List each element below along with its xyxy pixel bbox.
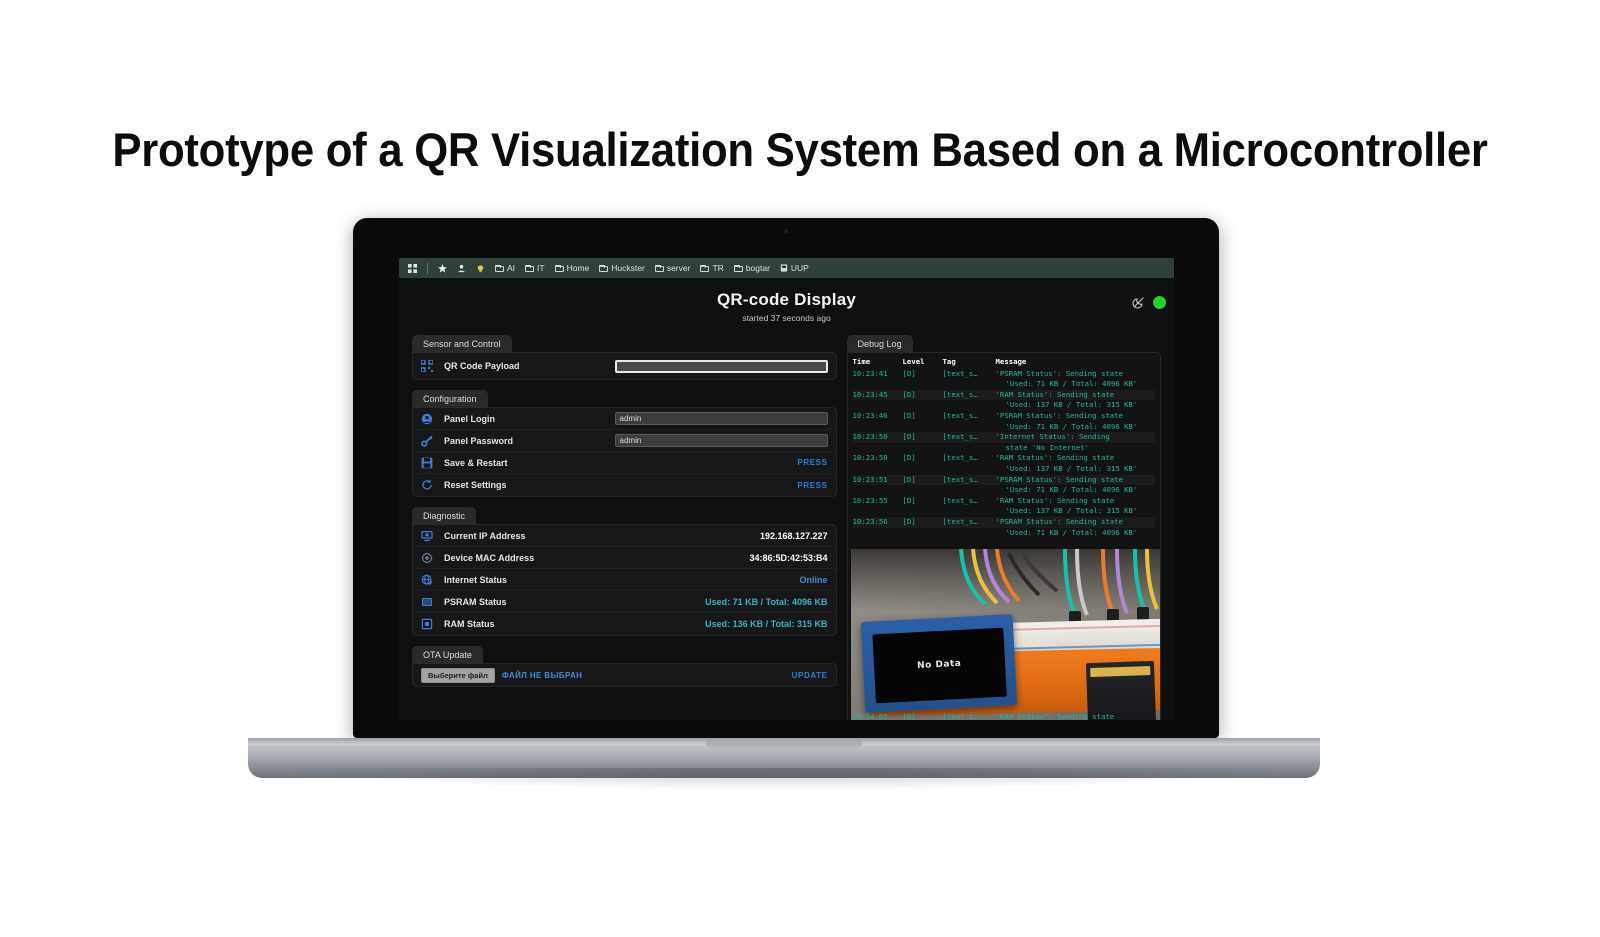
log-entry-continued: 'Used: 137 KB / Total: 315 KB' (853, 506, 1155, 517)
ram-status-value: Used: 136 KB / Total: 315 KB (705, 619, 827, 629)
bookmark-label: TR (712, 263, 723, 273)
log-message-continued: 'Used: 71 KB / Total: 4096 KB' (996, 422, 1155, 433)
log-entry-continued: 'Used: 71 KB / Total: 4096 KB' (853, 422, 1155, 433)
device-mac-address-value: 34:86:5D:42:53:B4 (749, 553, 827, 563)
debug-log-rows: 10:23:41[D][text_s…'PSRAM Status': Sendi… (853, 369, 1155, 539)
ram-icon (421, 618, 437, 630)
row-panel-login: Panel Login admin (413, 408, 836, 430)
log-entry: 10:23:50[D][text_s…'Internet Status': Se… (853, 432, 1155, 443)
log-tag: [text_s… (943, 517, 996, 528)
log-entry-continued: state 'No Internet' (853, 443, 1155, 454)
folder-icon (555, 265, 564, 272)
reset-icon (421, 479, 437, 491)
bookmark-folder-home[interactable]: Home (552, 263, 593, 273)
save-and-restart-button[interactable]: PRESS (797, 458, 827, 467)
lcd-module: No Data (861, 614, 1018, 713)
log-time: 10:23:45 (853, 390, 903, 401)
page-icon (780, 264, 788, 272)
key-icon (421, 435, 437, 447)
log-time: 10:23:50 (853, 453, 903, 464)
log-message-continued: state 'No Internet' (996, 443, 1155, 454)
webcam-icon (784, 229, 788, 233)
bookmark-folder-ai[interactable]: AI (492, 263, 518, 273)
laptop-shadow (272, 768, 1296, 790)
log-message-continued: 'Used: 137 KB / Total: 315 KB' (996, 400, 1155, 411)
bookmark-divider (427, 263, 428, 274)
folder-icon (734, 265, 743, 272)
device-mac-address-label: Device MAC Address (444, 553, 749, 563)
log-entry-continued: 'Used: 71 KB / Total: 4096 KB' (853, 379, 1155, 390)
psram-status-value: Used: 71 KB / Total: 4096 KB (705, 597, 827, 607)
browser-bookmarks-bar: AI IT Home Huckster server TR bogtar UUP (399, 258, 1174, 278)
header-actions (1132, 295, 1166, 309)
user-circle-icon (421, 413, 437, 425)
person-icon[interactable] (454, 264, 469, 273)
log-time: 10:23:51 (853, 475, 903, 486)
qr-code-payload-label: QR Code Payload (444, 361, 615, 371)
connection-status-dot (1153, 296, 1166, 309)
sensor-panel: QR Code Payload (412, 352, 837, 380)
laptop-lid: AI IT Home Huckster server TR bogtar UUP (353, 218, 1219, 738)
qr-display-app: QR-code Display started 37 seconds ago (399, 278, 1174, 720)
page-title: Prototype of a QR Visualization System B… (56, 122, 1544, 177)
monitor-icon (421, 530, 437, 542)
right-column: Debug Log Time Level Tag Message (847, 333, 1161, 720)
log-time: 10:23:56 (853, 517, 903, 528)
row-save-and-restart: Save & Restart PRESS (413, 452, 836, 474)
log-time: 10:23:50 (853, 432, 903, 443)
bookmark-folder-tr[interactable]: TR (697, 263, 726, 273)
log-message: 'PSRAM Status': Sending state (996, 517, 1155, 528)
row-psram-status: PSRAM Status Used: 71 KB / Total: 4096 K… (413, 591, 836, 613)
log-tag: [text_s… (943, 453, 996, 464)
log-message: 'PSRAM Status': Sending state (996, 475, 1155, 486)
psram-status-label: PSRAM Status (444, 597, 705, 607)
log-level: [D] (903, 369, 943, 380)
current-ip-address-value: 192.168.127.227 (760, 531, 828, 541)
debug-log-panel[interactable]: Time Level Tag Message 10:23:41[D][text_… (847, 352, 1161, 720)
laptop-screen: AI IT Home Huckster server TR bogtar UUP (399, 258, 1174, 720)
bookmark-label: UUP (791, 263, 809, 273)
log-level: [D] (903, 411, 943, 422)
col-level: Level (903, 357, 943, 368)
row-reset-settings: Reset Settings PRESS (413, 474, 836, 496)
log-entry-continued: 'Used: 137 KB / Total: 315 KB' (853, 400, 1155, 411)
bookmark-folder-it[interactable]: IT (522, 263, 548, 273)
log-tag: [text_s… (943, 432, 996, 443)
log-entry: 10:23:50[D][text_s…'RAM Status': Sending… (853, 453, 1155, 464)
bookmark-page-uup[interactable]: UUP (777, 263, 812, 273)
qr-code-icon (421, 360, 437, 372)
qr-code-payload-input[interactable] (615, 360, 828, 373)
file-status-label: ФАЙЛ НЕ ВЫБРАН (502, 671, 582, 680)
panel-login-label: Panel Login (444, 414, 615, 424)
laptop-mockup: AI IT Home Huckster server TR bogtar UUP (248, 218, 1320, 778)
log-level: [D] (903, 453, 943, 464)
panel-login-input[interactable]: admin (615, 412, 828, 425)
log-message: 'PSRAM Status': Sending state (996, 411, 1155, 422)
log-entry: 10:23:56[D][text_s…'PSRAM Status': Sendi… (853, 517, 1155, 528)
device-photo: No Data (851, 549, 1161, 720)
bookmark-label: Huckster (611, 263, 645, 273)
log-message-continued: 'Used: 71 KB / Total: 4096 KB' (996, 485, 1155, 496)
log-tag: [text_s… (943, 390, 996, 401)
reset-settings-label: Reset Settings (444, 480, 797, 490)
ram-status-label: RAM Status (444, 619, 705, 629)
bookmark-label: server (667, 263, 691, 273)
log-time: 10:23:41 (853, 369, 903, 380)
log-tag: [text_s… (943, 475, 996, 486)
internet-status-value: Online (800, 575, 828, 585)
log-entry-continued: 'Used: 71 KB / Total: 4096 KB' (853, 485, 1155, 496)
diagnostic-section: Diagnostic Current IP Address 192.168.12… (412, 505, 837, 636)
row-internet-status: Internet Status Online (413, 569, 836, 591)
log-entry: 10:23:45[D][text_s…'RAM Status': Sending… (853, 390, 1155, 401)
tab-ota-update[interactable]: OTA Update (412, 646, 483, 664)
log-level: [D] (903, 496, 943, 507)
log-message: 'RAM Status': Sending state (996, 712, 1155, 720)
row-current-ip-address: Current IP Address 192.168.127.227 (413, 525, 836, 547)
log-time: 10:24:05 (853, 712, 903, 720)
lcd-screen-text: No Data (917, 659, 962, 671)
log-tag: [text_s… (943, 369, 996, 380)
log-level: [D] (903, 517, 943, 528)
configuration-section: Configuration Panel Login admin (412, 388, 837, 497)
current-ip-address-label: Current IP Address (444, 531, 760, 541)
log-time: 10:23:55 (853, 496, 903, 507)
left-column: Sensor and Control QR Code Payload (412, 333, 837, 720)
app-header: QR-code Display started 37 seconds ago (399, 278, 1174, 323)
bookmark-label: AI (507, 263, 515, 273)
log-entry: 10:23:41[D][text_s…'PSRAM Status': Sendi… (853, 369, 1155, 380)
log-message: 'RAM Status': Sending state (996, 453, 1155, 464)
row-qr-code-payload: QR Code Payload (413, 353, 836, 379)
log-entry-continued: 'Used: 137 KB / Total: 315 KB' (853, 464, 1155, 475)
laptop-notch (706, 738, 862, 751)
row-ram-status: RAM Status Used: 136 KB / Total: 315 KB (413, 613, 836, 635)
apps-grid-icon[interactable] (405, 264, 420, 273)
col-time: Time (853, 357, 903, 368)
log-message: 'RAM Status': Sending state (996, 390, 1155, 401)
log-level: [D] (903, 712, 943, 720)
log-entry-continued: 'Used: 71 KB / Total: 4096 KB' (853, 528, 1155, 539)
bookmark-label: Home (567, 263, 590, 273)
internet-status-label: Internet Status (444, 575, 800, 585)
choose-file-button[interactable]: Выберите файл (421, 668, 495, 683)
folder-icon (655, 265, 664, 272)
reset-settings-button[interactable]: PRESS (797, 481, 827, 490)
app-uptime: started 37 seconds ago (399, 313, 1174, 323)
log-entry: 10:23:55[D][text_s…'RAM Status': Sending… (853, 496, 1155, 507)
folder-icon (700, 265, 709, 272)
star-icon[interactable] (435, 264, 450, 273)
col-message: Message (996, 357, 1155, 368)
log-message-continued: 'Used: 71 KB / Total: 4096 KB' (996, 379, 1155, 390)
page-root: Prototype of a QR Visualization System B… (0, 0, 1600, 937)
save-and-restart-label: Save & Restart (444, 458, 797, 468)
log-message-continued: 'Used: 71 KB / Total: 4096 KB' (996, 528, 1155, 539)
update-button[interactable]: UPDATE (792, 671, 828, 680)
ota-update-panel: Выберите файл ФАЙЛ НЕ ВЫБРАН UPDATE (412, 663, 837, 687)
chip-icon (421, 552, 437, 564)
tab-diagnostic[interactable]: Diagnostic (412, 507, 476, 525)
tab-sensor-and-control[interactable]: Sensor and Control (412, 335, 512, 353)
folder-icon (525, 265, 534, 272)
log-entry: 10:23:46[D][text_s…'PSRAM Status': Sendi… (853, 411, 1155, 422)
row-ota-file: Выберите файл ФАЙЛ НЕ ВЫБРАН UPDATE (413, 664, 836, 686)
save-icon (421, 457, 437, 469)
log-level: [D] (903, 390, 943, 401)
log-tag: [text_s… (943, 496, 996, 507)
ota-update-section: OTA Update Выберите файл ФАЙЛ НЕ ВЫБРАН … (412, 644, 837, 687)
panel-password-label: Panel Password (444, 436, 615, 446)
bookmark-folder-server[interactable]: server (652, 263, 694, 273)
debug-log-header: Time Level Tag Message (853, 357, 1155, 368)
log-message: 'PSRAM Status': Sending state (996, 369, 1155, 380)
diagnostic-panel: Current IP Address 192.168.127.227 Devic… (412, 524, 837, 636)
configuration-panel: Panel Login admin Panel Password adm (412, 407, 837, 497)
log-tag: [text_s… (943, 411, 996, 422)
log-message-continued: 'Used: 137 KB / Total: 315 KB' (996, 506, 1155, 517)
app-body: Sensor and Control QR Code Payload (399, 323, 1174, 720)
debug-log-table: Time Level Tag Message 10:23:41[D][text_… (848, 353, 1160, 538)
bookmark-folder-bogtar[interactable]: bogtar (731, 263, 773, 273)
bookmark-label: bogtar (746, 263, 770, 273)
log-message-continued: 'Used: 137 KB / Total: 315 KB' (996, 464, 1155, 475)
log-entry: 10:23:51[D][text_s…'PSRAM Status': Sendi… (853, 475, 1155, 486)
tab-debug-log[interactable]: Debug Log (847, 335, 913, 353)
debug-log-bottom-entry: 10:24:05 [D] [text_s… 'RAM Status': Send… (848, 712, 1160, 720)
bookmark-folder-huckster[interactable]: Huckster (596, 263, 648, 273)
panel-password-input[interactable]: admin (615, 434, 828, 447)
sensor-section: Sensor and Control QR Code Payload (412, 333, 837, 380)
row-device-mac-address: Device MAC Address 34:86:5D:42:53:B4 (413, 547, 836, 569)
folder-icon (599, 265, 608, 272)
moon-slash-icon[interactable] (1132, 295, 1146, 309)
log-message: 'Internet Status': Sending (996, 432, 1155, 443)
log-message: 'RAM Status': Sending state (996, 496, 1155, 507)
pin-header (1090, 666, 1150, 677)
bookmark-label: IT (537, 263, 545, 273)
memory-icon (421, 596, 437, 608)
lcd-screen: No Data (872, 628, 1006, 704)
lightbulb-icon[interactable] (473, 264, 488, 273)
folder-icon (495, 265, 504, 272)
app-title: QR-code Display (399, 290, 1174, 310)
log-level: [D] (903, 475, 943, 486)
log-level: [D] (903, 432, 943, 443)
log-tag: [text_s… (943, 712, 996, 720)
row-panel-password: Panel Password admin (413, 430, 836, 452)
tab-configuration[interactable]: Configuration (412, 390, 488, 408)
globe-check-icon (421, 574, 437, 586)
log-time: 10:23:46 (853, 411, 903, 422)
col-tag: Tag (943, 357, 996, 368)
